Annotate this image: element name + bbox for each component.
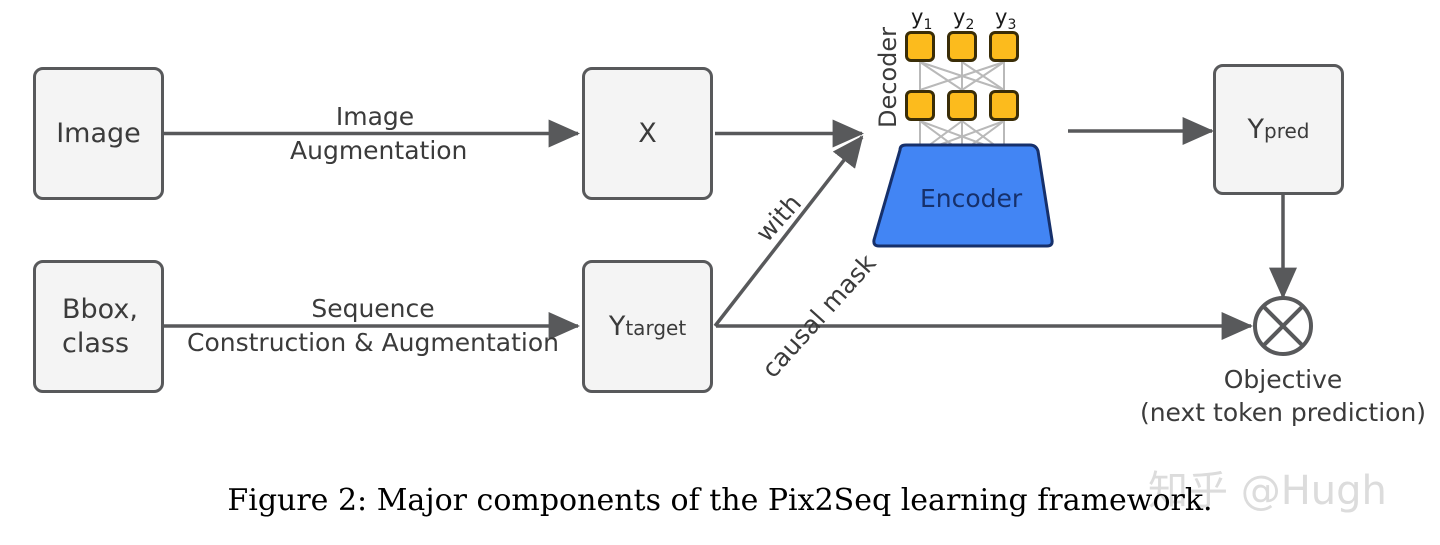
edge-label-sequence-construction-line1: Sequence (186, 292, 560, 326)
node-x-label: X (638, 117, 657, 151)
token-label-y1: y1 (911, 5, 932, 33)
decoder-label: Decoder (874, 27, 902, 128)
decoder-attention-lines-upper (920, 62, 1004, 90)
edge-label-sequence-construction: Sequence Construction & Augmentation (186, 292, 560, 360)
node-y-target-base: Y (609, 310, 626, 344)
node-bbox-class-line1: Bbox, (62, 293, 138, 327)
token-label-y2-base: y (953, 5, 965, 29)
edge-label-image-augmentation-line1: Image (290, 100, 460, 134)
token-label-y3-base: y (995, 5, 1007, 29)
node-y-pred-sub: pred (1264, 119, 1309, 144)
node-x[interactable]: X (582, 67, 713, 200)
decoder-token-r1c3 (989, 31, 1019, 62)
node-image[interactable]: Image (33, 67, 164, 200)
edge-label-image-augmentation-line2: Augmentation (290, 134, 460, 168)
decoder-token-r1c2 (947, 31, 977, 62)
decoder-token-r2c1 (905, 90, 935, 121)
node-y-pred-base: Y (1248, 113, 1265, 147)
encoder-label: Encoder (920, 184, 1022, 213)
objective-label: Objective (next token prediction) (1133, 364, 1433, 429)
figure-container: Image Bbox, class X Ytarget Ypred Image … (0, 0, 1440, 545)
node-image-label: Image (56, 117, 141, 151)
node-y-target[interactable]: Ytarget (582, 260, 713, 393)
edge-label-image-augmentation: Image Augmentation (290, 100, 460, 168)
decoder-token-r2c2 (947, 90, 977, 121)
objective-symbol (1255, 298, 1311, 354)
node-y-pred-label: Ypred (1248, 113, 1310, 147)
token-label-y1-base: y (911, 5, 923, 29)
decoder-token-r1c1 (905, 31, 935, 62)
decoder-label-text: Decoder (874, 27, 902, 128)
figure-caption: Figure 2: Major components of the Pix2Se… (0, 483, 1440, 518)
objective-label-line1: Objective (1133, 364, 1433, 397)
node-bbox-class-line2: class (62, 327, 129, 361)
objective-label-line2: (next token prediction) (1133, 397, 1433, 430)
node-y-pred[interactable]: Ypred (1213, 64, 1344, 195)
node-y-target-sub: target (625, 316, 686, 341)
node-bbox-class[interactable]: Bbox, class (33, 260, 164, 393)
decoder-token-r2c3 (989, 90, 1019, 121)
encoder-label-text: Encoder (920, 184, 1022, 213)
node-y-target-label: Ytarget (609, 310, 686, 344)
token-label-y3: y3 (995, 5, 1016, 33)
token-label-y2: y2 (953, 5, 974, 33)
edge-label-sequence-construction-line2: Construction & Augmentation (186, 326, 560, 360)
